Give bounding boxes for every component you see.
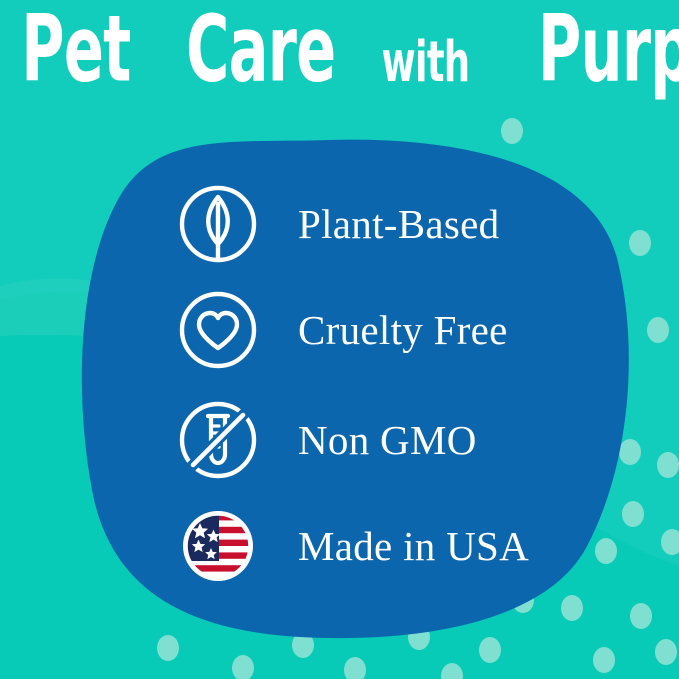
- badge-label-cruelty-free: Cruelty Free: [298, 310, 508, 351]
- badge-label-non-gmo: Non GMO: [298, 420, 477, 461]
- usa-flag-circle-icon: [176, 504, 260, 588]
- headline-word-with: with: [381, 34, 469, 90]
- icon-ring: [182, 294, 254, 366]
- badge-row-plant-based: Plant-Based: [176, 182, 499, 266]
- prohibition-slash: [193, 415, 243, 465]
- leaf-in-circle-icon: [176, 182, 260, 266]
- page-title: Pet Care with Purpose ®: [0, 14, 679, 96]
- badge-row-cruelty-free: Cruelty Free: [176, 288, 508, 372]
- headline-word-purpose: Purpose: [538, 4, 679, 96]
- headline-word-pet: Pet: [21, 4, 130, 96]
- heart-in-circle-icon: [176, 288, 260, 372]
- badge-row-non-gmo: Non GMO: [176, 398, 477, 482]
- no-gmo-test-tube-icon: [176, 398, 260, 482]
- badge-label-made-in-usa: Made in USA: [298, 526, 529, 567]
- heart-shape: [199, 313, 237, 348]
- headline-word-care: Care: [186, 4, 335, 96]
- promo-graphic: Pet Care with Purpose ® Plant-Based: [0, 0, 679, 679]
- badge-label-plant-based: Plant-Based: [298, 204, 499, 245]
- badge-row-made-in-usa: Made in USA: [176, 504, 529, 588]
